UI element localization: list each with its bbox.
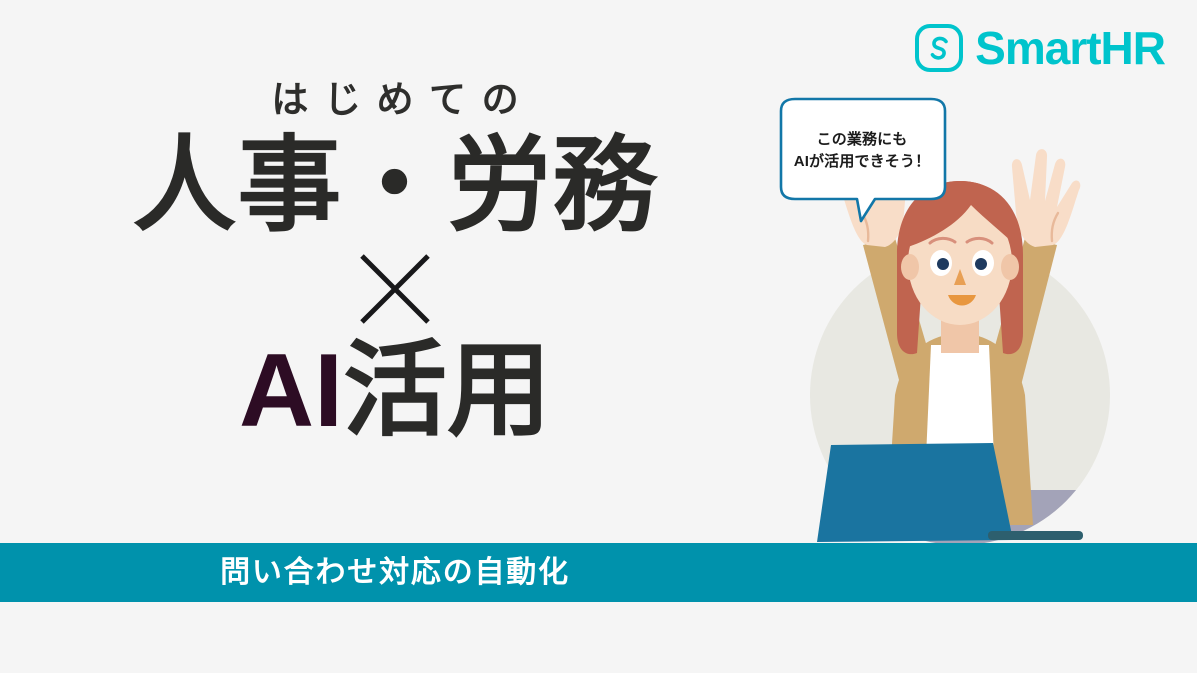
brand-wordmark: SmartHR (975, 25, 1165, 71)
cross-symbol (0, 245, 790, 333)
hero-illustration (745, 95, 1145, 575)
headline-line-1: 人事・労務 (0, 128, 790, 244)
left-pupil (937, 258, 949, 270)
bottom-banner-text: 問い合わせ対応の自動化 (0, 558, 790, 588)
headline-kicker: はじめての (0, 78, 790, 122)
smarthr-logo-icon (913, 22, 965, 74)
left-ear (901, 254, 919, 280)
headline-line-2-rest: 活用 (343, 333, 551, 449)
headline-line-2: AI活用 (0, 333, 790, 449)
multiplication-cross-icon (358, 252, 432, 326)
poster-canvas: SmartHR はじめての 人事・労務 AI活用 (0, 0, 1197, 673)
right-pupil (975, 258, 987, 270)
brand-logo: SmartHR (913, 22, 1165, 74)
headline-block: はじめての 人事・労務 AI活用 (0, 78, 790, 449)
right-ear (1001, 254, 1019, 280)
right-hand (1012, 149, 1080, 247)
bottom-banner: 問い合わせ対応の自動化 (0, 543, 1197, 602)
headline-ai-accent: AI (239, 333, 343, 449)
